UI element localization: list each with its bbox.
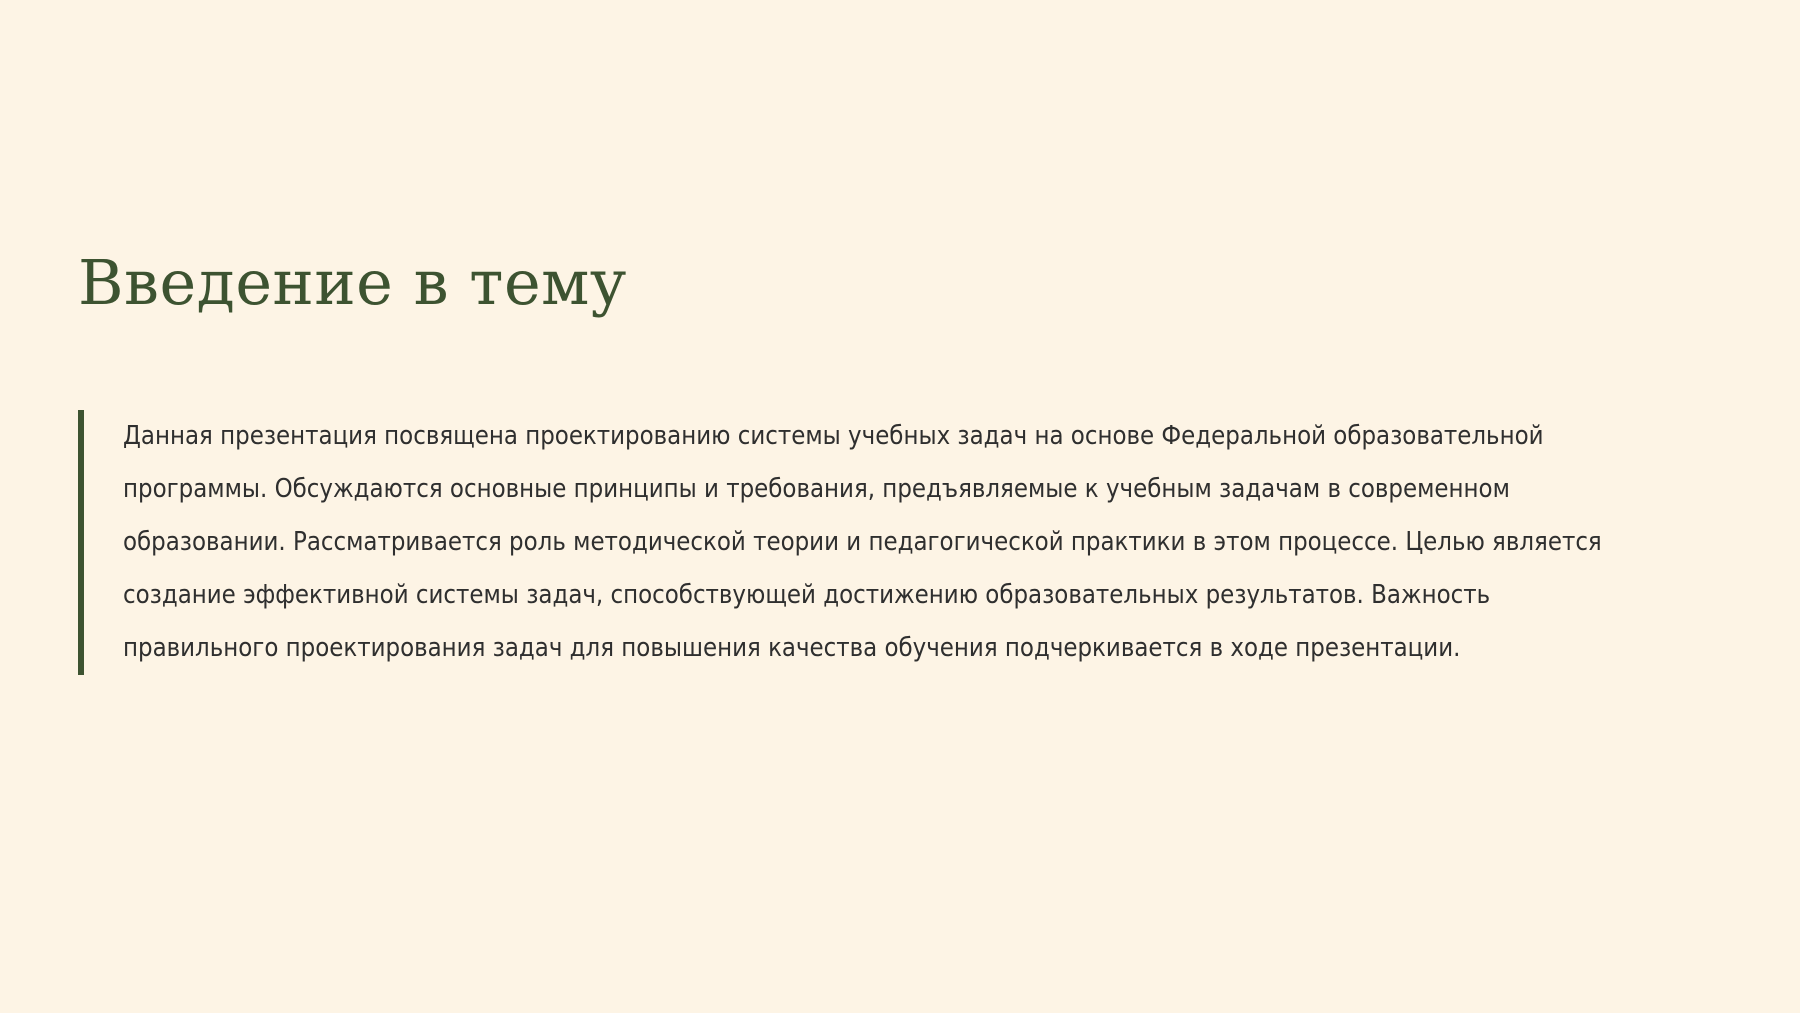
- page-title: Введение в тему: [78, 248, 627, 317]
- body-quote-block: Данная презентация посвящена проектирова…: [78, 410, 1718, 675]
- body-paragraph: Данная презентация посвящена проектирова…: [84, 410, 1623, 675]
- presentation-slide: Введение в тему Данная презентация посвя…: [0, 0, 1800, 1013]
